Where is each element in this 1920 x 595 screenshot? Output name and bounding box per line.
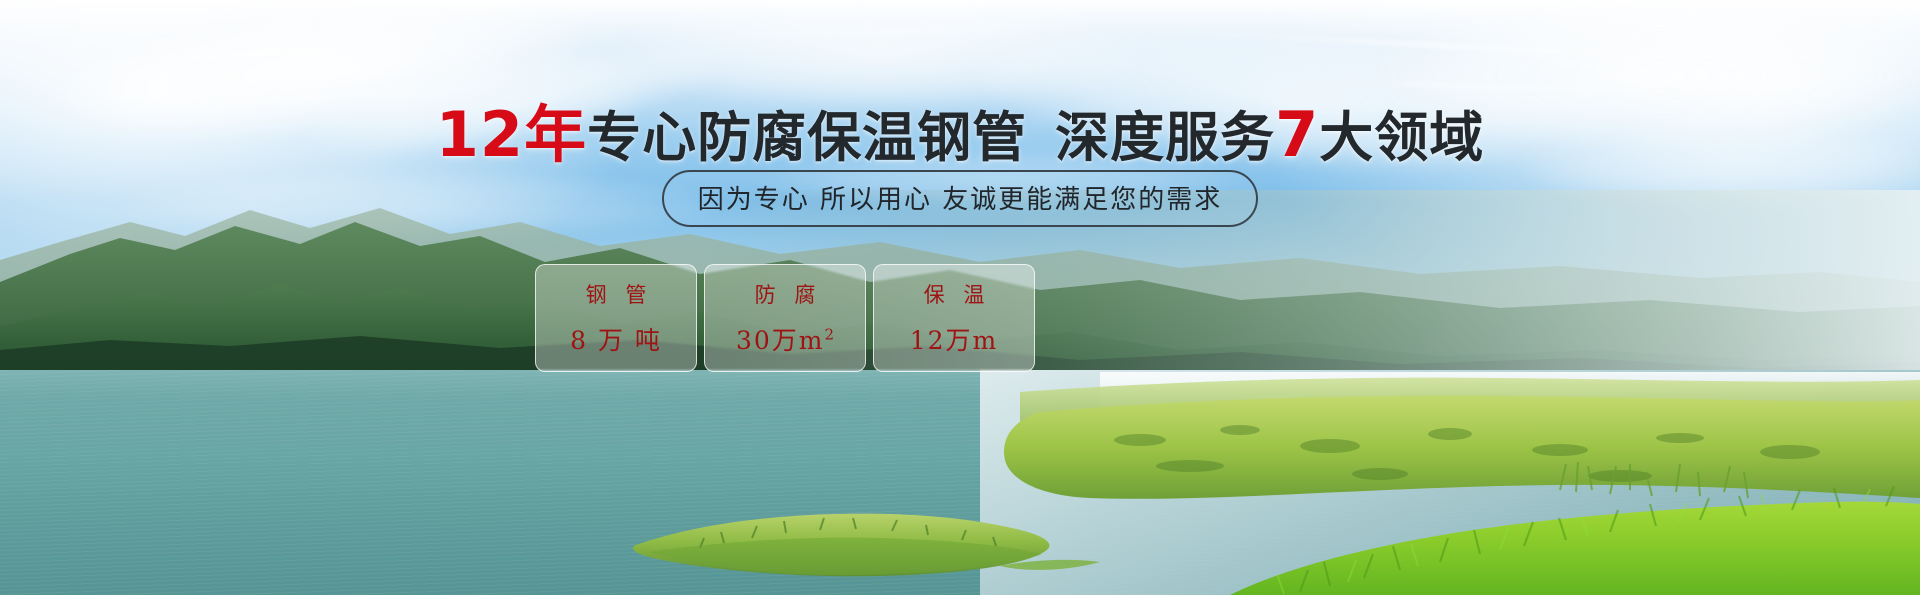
stat-card-label: 保 温	[918, 279, 991, 309]
page-title: 12年专心防腐保温钢管深度服务7大领域	[0, 84, 1920, 174]
subtitle-pill: 因为专心 所以用心 友诚更能满足您的需求	[662, 170, 1259, 227]
stat-card-label: 防 腐	[749, 279, 822, 309]
stat-value-base: 30万m	[736, 326, 825, 355]
stat-card-group: 钢 管 8 万 吨 防 腐 30万m2 保 温 12万m	[535, 264, 1035, 372]
stat-card-insulation[interactable]: 保 温 12万m	[873, 264, 1035, 372]
stat-value-base: 12万m	[910, 326, 999, 355]
stat-value-superscript: 2	[824, 326, 834, 344]
stat-card-value: 30万m2	[736, 321, 834, 357]
stat-card-value: 8 万 吨	[570, 321, 662, 357]
stat-card-anticorrosion[interactable]: 防 腐 30万m2	[704, 264, 866, 372]
hero-banner: 12年专心防腐保温钢管深度服务7大领域 因为专心 所以用心 友诚更能满足您的需求…	[0, 0, 1920, 595]
stat-card-value: 12万m	[910, 321, 999, 357]
stat-card-steel-pipe[interactable]: 钢 管 8 万 吨	[535, 264, 697, 372]
headline-years-unit: 年	[524, 98, 587, 171]
headline-main-text: 专心防腐保温钢管	[587, 106, 1027, 169]
stat-value-base: 8 万 吨	[570, 326, 662, 355]
headline-fields-text: 大领域	[1319, 106, 1484, 169]
headline-fields-number: 7	[1275, 98, 1319, 171]
subtitle-container: 因为专心 所以用心 友诚更能满足您的需求	[0, 170, 1920, 227]
headline-years-number: 12	[436, 98, 524, 171]
stat-card-label: 钢 管	[580, 279, 653, 309]
headline-service-text: 深度服务	[1055, 106, 1275, 169]
